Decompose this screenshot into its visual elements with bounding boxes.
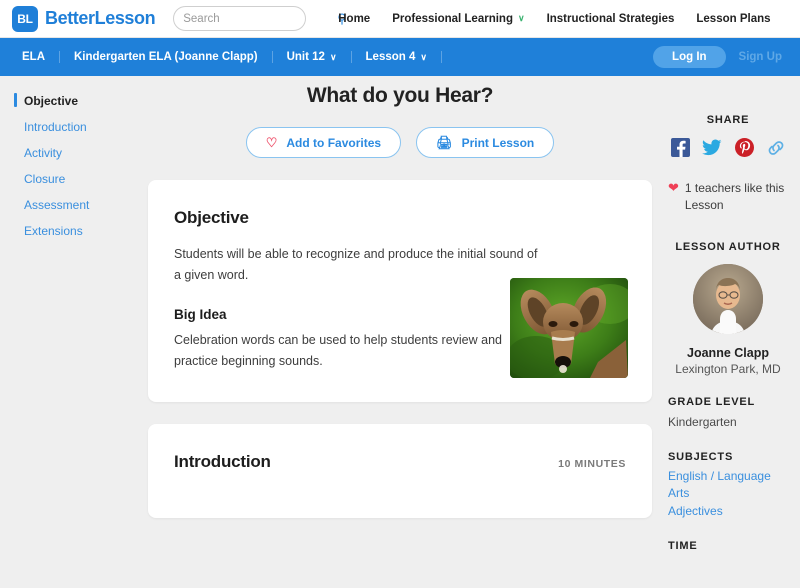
author-name[interactable]: Joanne Clapp xyxy=(668,346,788,360)
chevron-down-icon: ∨ xyxy=(330,52,337,63)
share-heading: SHARE xyxy=(668,114,788,126)
introduction-card: Introduction 10 MINUTES xyxy=(148,424,652,518)
breadcrumb-item-lesson-label: Lesson 4 xyxy=(366,51,416,63)
search-input[interactable] xyxy=(183,13,337,25)
sidebar-item-extensions[interactable]: Extensions xyxy=(14,218,140,244)
breadcrumb-item-unit-label: Unit 12 xyxy=(287,51,325,63)
time-heading: TIME xyxy=(668,540,788,552)
breadcrumb-item-ela-label: ELA xyxy=(22,51,45,63)
introduction-heading: Introduction xyxy=(174,452,271,472)
grade-level-value: Kindergarten xyxy=(668,413,788,431)
page-body: Objective Introduction Activity Closure … xyxy=(0,76,800,588)
sidebar-item-introduction[interactable]: Introduction xyxy=(14,114,140,140)
breadcrumb-item-ela[interactable]: ELA xyxy=(14,51,60,63)
sidebar-item-objective[interactable]: Objective xyxy=(14,88,140,114)
nav-item-professional-learning-label: Professional Learning xyxy=(392,13,513,25)
breadcrumb-item-course-label: Kindergarten ELA (Joanne Clapp) xyxy=(74,51,258,63)
lesson-section-sidebar: Objective Introduction Activity Closure … xyxy=(0,76,140,588)
printer-icon: 🖨 xyxy=(436,136,453,149)
lesson-action-buttons: ♡ Add to Favorites 🖨 Print Lesson xyxy=(148,127,652,158)
twitter-icon[interactable] xyxy=(702,137,723,158)
likes-text: 1 teachers like this Lesson xyxy=(685,180,788,215)
print-lesson-button[interactable]: 🖨 Print Lesson xyxy=(416,127,554,158)
likes-row: ❤ 1 teachers like this Lesson xyxy=(668,180,788,215)
avatar xyxy=(693,264,763,334)
link-icon[interactable] xyxy=(766,137,787,158)
lesson-meta-sidebar: SHARE ❤ 1 teachers like this Lesson LESS… xyxy=(660,76,800,588)
breadcrumb-item-unit[interactable]: Unit 12 ∨ xyxy=(273,51,352,63)
nav-item-instructional-strategies-label: Instructional Strategies xyxy=(547,13,675,25)
introduction-card-header: Introduction 10 MINUTES xyxy=(174,452,626,488)
chevron-down-icon: ∨ xyxy=(420,52,427,63)
breadcrumb-bar: ELA Kindergarten ELA (Joanne Clapp) Unit… xyxy=(0,38,800,76)
sidebar-item-activity[interactable]: Activity xyxy=(14,140,140,166)
lesson-author-heading: LESSON AUTHOR xyxy=(668,241,788,253)
nav-item-lesson-plans[interactable]: Lesson Plans xyxy=(696,13,770,25)
facebook-icon[interactable] xyxy=(670,137,691,158)
log-in-button[interactable]: Log In xyxy=(653,46,726,68)
subjects-heading: SUBJECTS xyxy=(668,451,788,463)
nav-item-home[interactable]: Home xyxy=(338,13,370,25)
add-to-favorites-label: Add to Favorites xyxy=(286,136,381,150)
author-location: Lexington Park, MD xyxy=(668,362,788,376)
nav-item-home-label: Home xyxy=(338,13,370,25)
betterlesson-logo-icon: BL xyxy=(12,6,38,32)
chevron-down-icon: ∨ xyxy=(518,13,525,24)
breadcrumb-item-course[interactable]: Kindergarten ELA (Joanne Clapp) xyxy=(60,51,273,63)
nav-item-lesson-plans-label: Lesson Plans xyxy=(696,13,770,25)
page-title: What do you Hear? xyxy=(148,84,652,108)
pinterest-icon[interactable] xyxy=(734,137,755,158)
brand-name: BetterLesson xyxy=(45,8,155,29)
top-navigation-bar: BL BetterLesson ⚲ Home Professional Lear… xyxy=(0,0,800,38)
breadcrumb-item-lesson[interactable]: Lesson 4 ∨ xyxy=(352,51,442,63)
nav-item-professional-learning[interactable]: Professional Learning ∨ xyxy=(392,13,524,25)
sidebar-item-assessment[interactable]: Assessment xyxy=(14,192,140,218)
heart-outline-icon: ♡ xyxy=(266,136,278,149)
brand-logo[interactable]: BL BetterLesson xyxy=(12,6,155,32)
main-content: What do you Hear? ♡ Add to Favorites 🖨 P… xyxy=(140,76,660,588)
print-lesson-label: Print Lesson xyxy=(462,136,535,150)
sign-up-button[interactable]: Sign Up xyxy=(739,51,782,63)
subject-link-adjectives[interactable]: Adjectives xyxy=(668,503,788,520)
grade-level-heading: GRADE LEVEL xyxy=(668,396,788,408)
share-icon-row xyxy=(668,137,788,158)
sidebar-item-closure[interactable]: Closure xyxy=(14,166,140,192)
deer-photo xyxy=(510,278,628,378)
objective-card: Objective Students will be able to recog… xyxy=(148,180,652,402)
objective-body: Students will be able to recognize and p… xyxy=(174,244,544,285)
primary-nav-links: Home Professional Learning ∨ Instruction… xyxy=(338,13,770,25)
add-to-favorites-button[interactable]: ♡ Add to Favorites xyxy=(246,127,401,158)
heart-filled-icon: ❤ xyxy=(668,180,679,215)
introduction-duration: 10 MINUTES xyxy=(558,458,626,470)
objective-heading: Objective xyxy=(174,208,626,228)
big-idea-body: Celebration words can be used to help st… xyxy=(174,330,544,371)
search-box[interactable]: ⚲ xyxy=(173,6,306,31)
subject-link-english-language-arts[interactable]: English / Language Arts xyxy=(668,468,788,503)
nav-item-instructional-strategies[interactable]: Instructional Strategies xyxy=(547,13,675,25)
